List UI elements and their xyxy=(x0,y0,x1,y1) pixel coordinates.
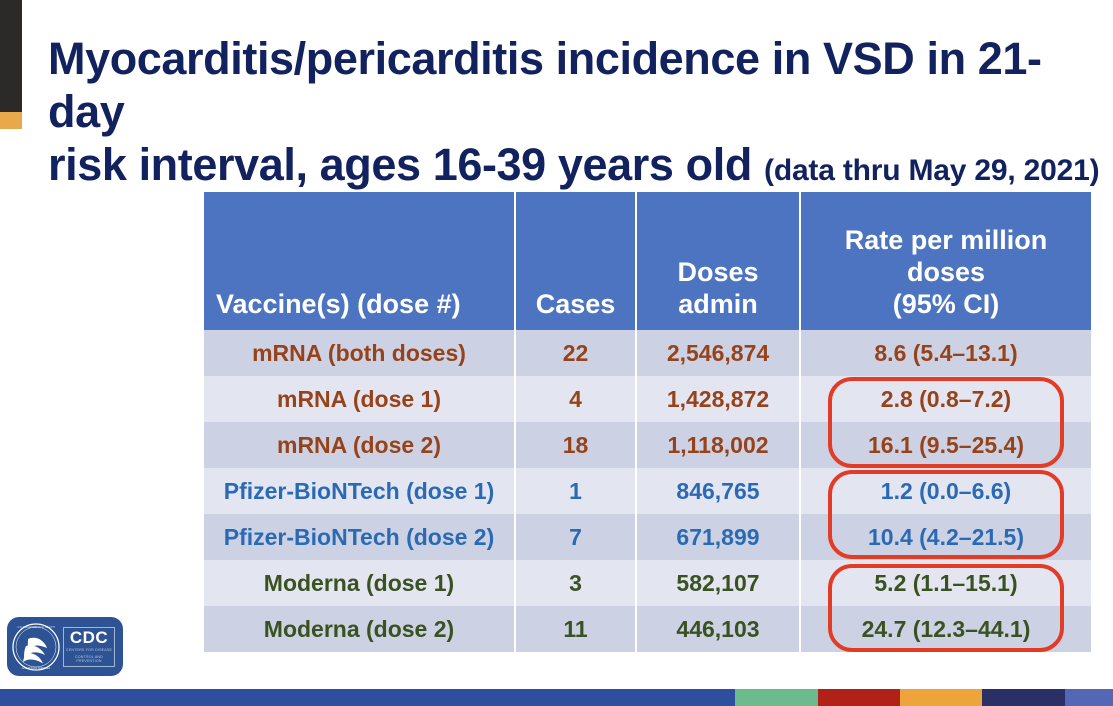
segment-blue xyxy=(0,689,735,706)
footer-color-bar xyxy=(0,689,1113,706)
cell-doses: 1,428,872 xyxy=(636,376,800,422)
cell-rate: 24.7 (12.3–44.1) xyxy=(800,606,1091,652)
cell-doses: 582,107 xyxy=(636,560,800,606)
cell-vaccine: Pfizer-BioNTech (dose 1) xyxy=(204,468,515,514)
column-header-doses-line1: Doses xyxy=(677,257,758,287)
top-left-dark-accent-bar xyxy=(0,0,22,112)
cell-cases: 4 xyxy=(515,376,636,422)
cell-cases: 1 xyxy=(515,468,636,514)
table-body: mRNA (both doses) 22 2,546,874 8.6 (5.4–… xyxy=(204,330,1091,652)
column-header-rate-line3: (95% CI) xyxy=(893,289,1000,319)
cdc-letters: CDC xyxy=(70,629,108,646)
cell-doses: 846,765 xyxy=(636,468,800,514)
hhs-seal-icon: U.S. DEPARTMENT OF HEALTH AND HUMAN SERV… xyxy=(11,622,61,672)
top-left-gold-accent-bar xyxy=(0,112,22,129)
cell-doses: 446,103 xyxy=(636,606,800,652)
cell-cases: 11 xyxy=(515,606,636,652)
cell-vaccine: Pfizer-BioNTech (dose 2) xyxy=(204,514,515,560)
table-row: Moderna (dose 2) 11 446,103 24.7 (12.3–4… xyxy=(204,606,1091,652)
cell-cases: 22 xyxy=(515,330,636,376)
table-row: mRNA (both doses) 22 2,546,874 8.6 (5.4–… xyxy=(204,330,1091,376)
cell-doses: 671,899 xyxy=(636,514,800,560)
column-header-cases: Cases xyxy=(515,192,636,330)
cell-cases: 3 xyxy=(515,560,636,606)
title-line-2: risk interval, ages 16-39 years old xyxy=(48,139,752,190)
segment-navy xyxy=(982,689,1065,706)
cell-cases: 7 xyxy=(515,514,636,560)
cell-rate: 5.2 (1.1–15.1) xyxy=(800,560,1091,606)
segment-orange xyxy=(900,689,982,706)
cell-doses: 2,546,874 xyxy=(636,330,800,376)
table-header-row: Vaccine(s) (dose #) Cases Doses admin Ra… xyxy=(204,192,1091,330)
segment-periwinkle xyxy=(1065,689,1113,706)
segment-green xyxy=(735,689,818,706)
column-header-doses-line2: admin xyxy=(678,289,758,319)
cdc-logo: U.S. DEPARTMENT OF HEALTH AND HUMAN SERV… xyxy=(7,617,123,676)
title-data-note: (data thru May 29, 2021) xyxy=(764,154,1099,187)
svg-text:AND HUMAN SERVICES: AND HUMAN SERVICES xyxy=(22,667,51,670)
cdc-wordmark: CDC CENTERS FOR DISEASE CONTROL AND PREV… xyxy=(63,627,115,667)
column-header-rate-line2: doses xyxy=(907,257,985,287)
column-header-cases-label: Cases xyxy=(536,289,616,319)
table-row: Pfizer-BioNTech (dose 2) 7 671,899 10.4 … xyxy=(204,514,1091,560)
table-row: mRNA (dose 1) 4 1,428,872 2.8 (0.8–7.2) xyxy=(204,376,1091,422)
table-row: Moderna (dose 1) 3 582,107 5.2 (1.1–15.1… xyxy=(204,560,1091,606)
cdc-tagline-line1: CENTERS FOR DISEASE xyxy=(66,648,112,653)
column-header-rate-line1: Rate per million xyxy=(845,225,1048,255)
cell-rate: 1.2 (0.0–6.6) xyxy=(800,468,1091,514)
cell-cases: 18 xyxy=(515,422,636,468)
column-header-doses-admin: Doses admin xyxy=(636,192,800,330)
table-row: Pfizer-BioNTech (dose 1) 1 846,765 1.2 (… xyxy=(204,468,1091,514)
cell-doses: 1,118,002 xyxy=(636,422,800,468)
cell-vaccine: Moderna (dose 1) xyxy=(204,560,515,606)
cell-rate: 10.4 (4.2–21.5) xyxy=(800,514,1091,560)
cell-vaccine: mRNA (both doses) xyxy=(204,330,515,376)
cell-vaccine: mRNA (dose 1) xyxy=(204,376,515,422)
cdc-tagline-line2: CONTROL AND PREVENTION xyxy=(64,655,114,664)
cell-vaccine: mRNA (dose 2) xyxy=(204,422,515,468)
table-row: mRNA (dose 2) 18 1,118,002 16.1 (9.5–25.… xyxy=(204,422,1091,468)
cell-rate: 8.6 (5.4–13.1) xyxy=(800,330,1091,376)
cell-vaccine: Moderna (dose 2) xyxy=(204,606,515,652)
cell-rate: 16.1 (9.5–25.4) xyxy=(800,422,1091,468)
cell-rate: 2.8 (0.8–7.2) xyxy=(800,376,1091,422)
svg-text:U.S. DEPARTMENT OF HEALTH: U.S. DEPARTMENT OF HEALTH xyxy=(17,626,54,629)
column-header-vaccine-label: Vaccine(s) (dose #) xyxy=(216,289,461,319)
title-line-1: Myocarditis/pericarditis incidence in VS… xyxy=(48,33,1042,137)
column-header-rate: Rate per million doses (95% CI) xyxy=(800,192,1091,330)
slide-title: Myocarditis/pericarditis incidence in VS… xyxy=(48,32,1108,197)
column-header-vaccine: Vaccine(s) (dose #) xyxy=(204,192,515,330)
segment-red xyxy=(818,689,900,706)
incidence-table: Vaccine(s) (dose #) Cases Doses admin Ra… xyxy=(204,192,1091,652)
